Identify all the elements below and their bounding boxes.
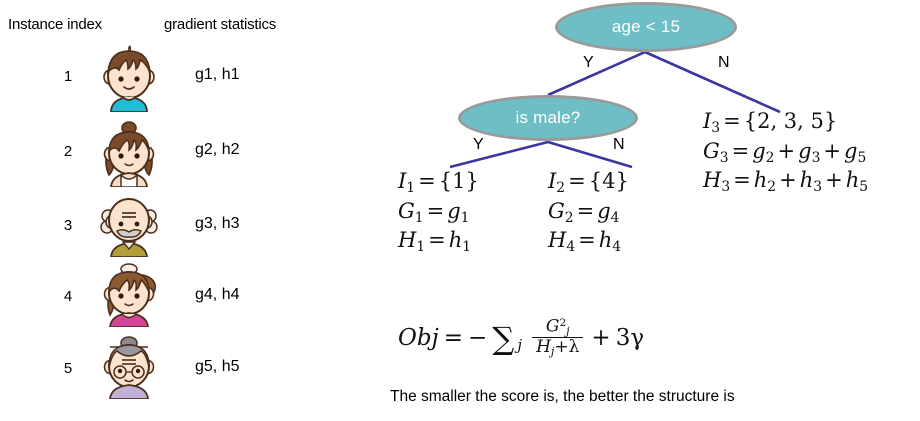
- objective-formula: Obj = − ∑ j G2j Hj+λ + 3γ: [398, 318, 644, 359]
- leaf-stats-middle: I2={4} G2=g4 H4=h4: [548, 168, 629, 257]
- table-row-index: 5: [56, 360, 80, 377]
- leaf-left-I: I1={1}: [398, 168, 479, 198]
- slide-canvas: Instance index gradient statistics 1 g1,…: [0, 0, 920, 421]
- fraction-numerator: G2j: [542, 318, 574, 337]
- avatar: [97, 331, 161, 399]
- leaf-middle-I: I2={4}: [548, 168, 629, 198]
- caption-text: The smaller the score is, the better the…: [390, 388, 735, 406]
- summation-icon: ∑: [492, 327, 514, 352]
- edge-label-root-no: N: [718, 54, 730, 72]
- edge-root-no: [645, 52, 780, 112]
- fraction-denominator: Hj+λ: [532, 337, 583, 359]
- tree-node-is-male[interactable]: is male?: [458, 95, 638, 141]
- table-row-stat: g2, h2: [195, 141, 239, 159]
- tree-node-root[interactable]: age < 15: [555, 2, 737, 52]
- column-header-instance-index: Instance index: [8, 16, 102, 33]
- table-row-index: 3: [56, 217, 80, 234]
- objective-tail: 3γ: [616, 325, 644, 351]
- leaf-left-G: G1=g1: [398, 198, 479, 228]
- summation-subscript: j: [517, 336, 522, 354]
- table-row-stat: g4, h4: [195, 286, 239, 304]
- table-row-stat: g1, h1: [195, 66, 239, 84]
- edge-child-yes: [450, 142, 548, 167]
- objective-minus: −: [468, 325, 487, 351]
- objective-fraction: G2j Hj+λ: [532, 318, 583, 359]
- edge-label-child-yes: Y: [473, 136, 484, 154]
- avatar: [97, 189, 161, 257]
- avatar: [97, 44, 161, 112]
- leaf-right-G: G3=g2+g3+g5: [703, 138, 868, 168]
- leaf-stats-left: I1={1} G1=g1 H1=h1: [398, 168, 479, 257]
- tree-node-root-label: age < 15: [612, 17, 680, 37]
- tree-node-is-male-label: is male?: [516, 108, 581, 128]
- leaf-right-H: H3=h2+h3+h5: [703, 167, 868, 197]
- leaf-right-I: I3={2, 3, 5}: [703, 108, 868, 138]
- objective-equals: =: [444, 325, 463, 351]
- edge-root-yes: [548, 52, 645, 95]
- table-row-index: 1: [56, 68, 80, 85]
- leaf-stats-right: I3={2, 3, 5} G3=g2+g3+g5 H3=h2+h3+h5: [703, 108, 868, 197]
- table-row-index: 2: [56, 143, 80, 160]
- edge-label-child-no: N: [613, 136, 625, 154]
- leaf-left-H: H1=h1: [398, 227, 479, 257]
- objective-lhs: Obj: [398, 325, 439, 351]
- table-row-stat: g5, h5: [195, 358, 239, 376]
- column-header-gradient-statistics: gradient statistics: [164, 16, 276, 33]
- table-row-index: 4: [56, 288, 80, 305]
- objective-plus: +: [591, 325, 610, 351]
- avatar: [97, 119, 161, 187]
- avatar: [97, 259, 161, 327]
- leaf-middle-H: H4=h4: [548, 227, 629, 257]
- leaf-middle-G: G2=g4: [548, 198, 629, 228]
- edge-label-root-yes: Y: [583, 54, 594, 72]
- table-row-stat: g3, h3: [195, 215, 239, 233]
